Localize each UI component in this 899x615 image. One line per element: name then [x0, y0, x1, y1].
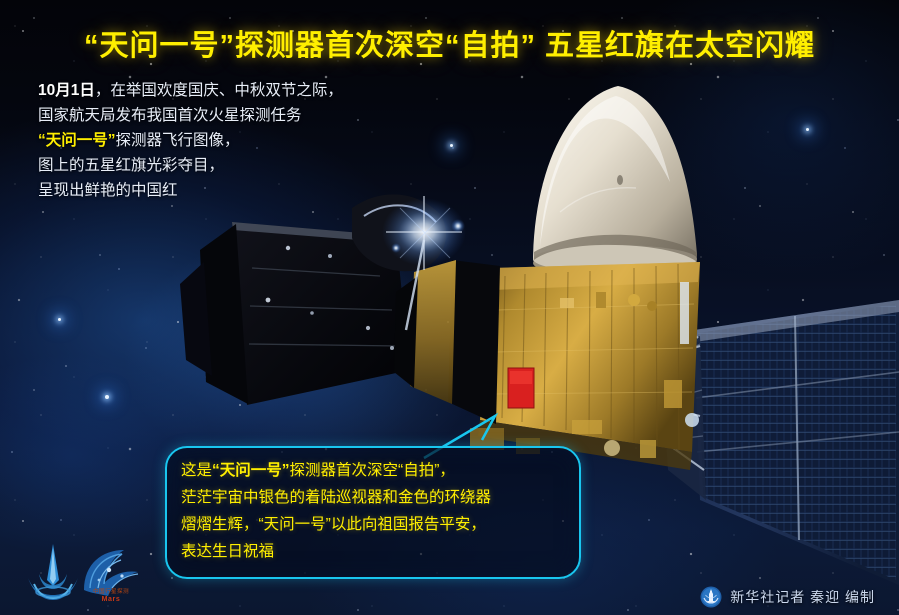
description-line-4: 图上的五星红旗光彩夺目，	[38, 153, 343, 178]
bright-star	[806, 128, 809, 131]
description-line-3-rest: 探测器飞行图像，	[116, 132, 240, 149]
cnsa-logo	[24, 540, 82, 604]
description-block: 10月1日，在举国欢度国庆、中秋双节之际， 国家航天局发布我国首次火星探测任务 …	[38, 78, 343, 203]
callout-line-4: 表达生日祝福	[181, 538, 569, 565]
callout-line-1: 这是“天问一号”探测器首次深空“自拍”，	[181, 457, 569, 484]
description-line-5: 呈现出鲜艳的中国红	[38, 178, 343, 203]
page-title: “天问一号”探测器首次深空“自拍” 五星红旗在太空闪耀	[0, 22, 899, 64]
xinhua-logo-icon	[700, 586, 722, 608]
description-line-1: 10月1日，在举国欢度国庆、中秋双节之际，	[38, 78, 343, 103]
callout-line-1-a: 这是	[181, 462, 212, 479]
china-planetary-exploration-logo	[78, 548, 144, 606]
description-line-2: 国家航天局发布我国首次火星探测任务	[38, 103, 343, 128]
date-label: 10月1日	[38, 82, 95, 99]
callout-box: 这是“天问一号”探测器首次深空“自拍”， 茫茫宇宙中银色的着陆巡视器和金色的环绕…	[165, 446, 581, 579]
description-line-3: “天问一号”探测器飞行图像，	[38, 128, 343, 153]
bright-star	[450, 144, 453, 147]
bright-star	[105, 395, 109, 399]
description-line-1-rest: ，在举国欢度国庆、中秋双节之际，	[95, 82, 343, 99]
callout-mission-name: “天问一号”	[212, 462, 290, 479]
callout-text: 这是“天问一号”探测器首次深空“自拍”， 茫茫宇宙中银色的着陆巡视器和金色的环绕…	[181, 457, 569, 565]
callout-line-3: 熠熠生辉，“天问一号”以此向祖国报告平安，	[181, 511, 569, 538]
credit-block: 新华社记者 秦迎 编制	[700, 586, 875, 608]
credit-text: 新华社记者 秦迎 编制	[730, 587, 875, 607]
mission-name-highlight: “天问一号”	[38, 132, 116, 149]
bright-star	[58, 318, 61, 321]
callout-line-2: 茫茫宇宙中银色的着陆巡视器和金色的环绕器	[181, 484, 569, 511]
poster-canvas: “天问一号”探测器首次深空“自拍” 五星红旗在太空闪耀 10月1日，在举国欢度国…	[0, 0, 899, 615]
callout-line-1-c: 探测器首次深空“自拍”，	[290, 462, 455, 479]
